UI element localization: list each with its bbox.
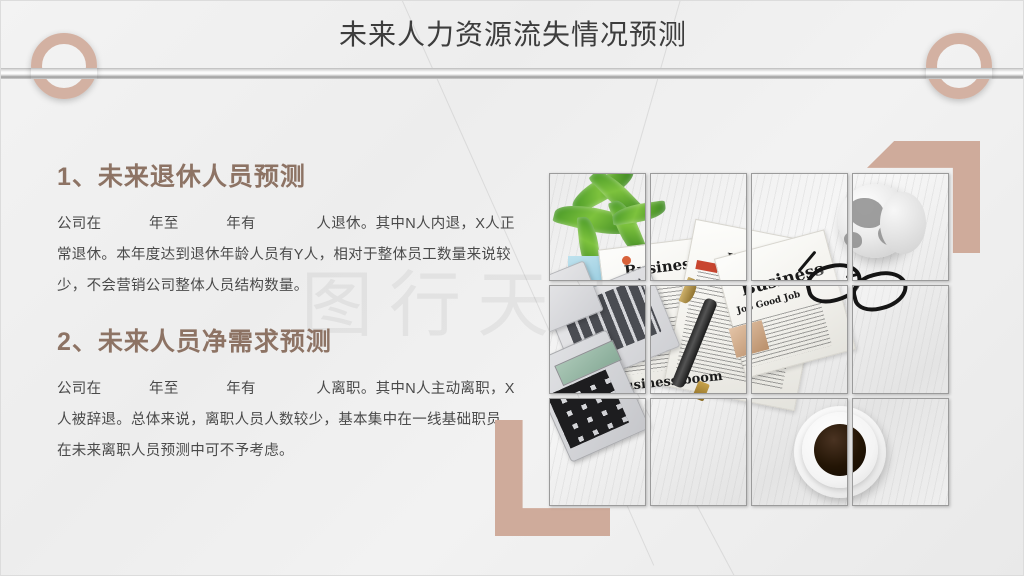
tile-r1c4: Business H Business Job Good Job usiness… — [852, 173, 949, 281]
section-heading: 2、未来人员净需求预测 — [57, 324, 517, 360]
presentation-slide: 图行天下 未来人力资源流失情况预测 1、未来退休人员预测 公司在 年至 年有 人… — [0, 0, 1024, 576]
tile-r3c1: Business H Business Job Good Job usiness… — [549, 398, 646, 506]
header-metal-bar-overlay-right — [926, 68, 992, 79]
tile-r2c1: Business H Business Job Good Job usiness… — [549, 285, 646, 393]
photo-mosaic: Business H Business Job Good Job usiness… — [549, 173, 949, 506]
tile-r3c4: Business H Business Job Good Job usiness… — [852, 398, 949, 506]
tile-r1c2: Business H Business Job Good Job usiness… — [650, 173, 747, 281]
tile-r1c1: Business H Business Job Good Job usiness… — [549, 173, 646, 281]
tile-r2c3: Business H Business Job Good Job usiness… — [751, 285, 848, 393]
tile-r1c3: Business H Business Job Good Job usiness… — [751, 173, 848, 281]
header-metal-bar-overlay-left — [31, 68, 97, 79]
slide-header: 未来人力资源流失情况预测 — [1, 1, 1024, 105]
tile-r2c4: Business H Business Job Good Job usiness… — [852, 285, 949, 393]
tile-r2c2: Business H Business Job Good Job usiness… — [650, 285, 747, 393]
section-retirement-forecast: 1、未来退休人员预测 公司在 年至 年有 人退休。其中N人内退，X人正常退休。本… — [57, 159, 517, 302]
section-body: 公司在 年至 年有 人退休。其中N人内退，X人正常退休。本年度达到退休年龄人员有… — [57, 209, 517, 302]
page-title: 未来人力资源流失情况预测 — [1, 15, 1024, 55]
header-metal-bar — [1, 68, 1024, 79]
text-content-column: 1、未来退休人员预测 公司在 年至 年有 人退休。其中N人内退，X人正常退休。本… — [57, 159, 517, 489]
photo-grid: Business H Business Job Good Job usiness… — [549, 173, 949, 506]
tile-r3c3: Business H Business Job Good Job usiness… — [751, 398, 848, 506]
tile-r3c2: Business H Business Job Good Job usiness… — [650, 398, 747, 506]
section-heading: 1、未来退休人员预测 — [57, 159, 517, 195]
section-net-demand-forecast: 2、未来人员净需求预测 公司在 年至 年有 人离职。其中N人主动离职，X人被辞退… — [57, 324, 517, 467]
section-body: 公司在 年至 年有 人离职。其中N人主动离职，X人被辞退。总体来说，离职人员人数… — [57, 374, 517, 467]
